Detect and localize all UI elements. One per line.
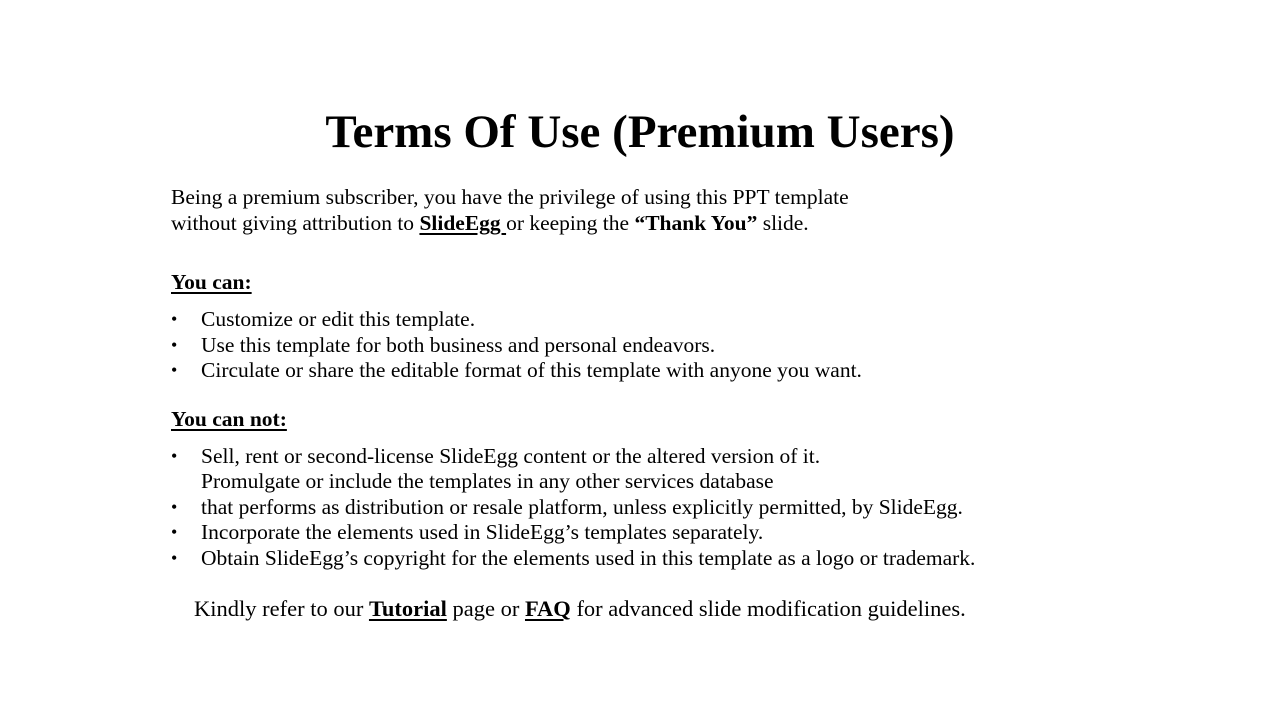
list-item-label: Customize or edit this template.: [201, 307, 475, 331]
list-item: • Use this template for both business an…: [171, 333, 1221, 359]
thank-you-quote: “Thank You”: [634, 211, 757, 235]
list-item: • Incorporate the elements used in Slide…: [171, 520, 1221, 546]
bullet-icon: •: [171, 333, 177, 359]
list-item: • that performs as distribution or resal…: [171, 495, 1221, 521]
list-item-label: Use this template for both business and …: [201, 333, 715, 357]
cannot-heading-wrap: You can not:: [171, 406, 1221, 432]
bullet-icon: •: [171, 546, 177, 572]
list-item: • Circulate or share the editable format…: [171, 358, 1221, 384]
footer-text-a: Kindly refer to our: [194, 596, 369, 621]
can-section-heading: You can:: [171, 269, 252, 295]
bullet-icon: •: [171, 520, 177, 546]
list-item: • Sell, rent or second-license SlideEgg …: [171, 444, 1221, 495]
intro-line-2-text-b: or keeping the: [506, 211, 634, 235]
list-item: • Obtain SlideEgg’s copyright for the el…: [171, 546, 1221, 572]
spacer-after-cannot-heading: [171, 432, 1221, 444]
intro-line-1: Being a premium subscriber, you have the…: [171, 184, 1221, 210]
cannot-list: • Sell, rent or second-license SlideEgg …: [171, 444, 1221, 572]
faq-link[interactable]: FAQ: [525, 596, 571, 621]
spacer-after-intro: [171, 236, 1221, 269]
intro-line-2-text-c: slide.: [757, 211, 808, 235]
slide-body: Being a premium subscriber, you have the…: [171, 184, 1221, 571]
list-item: • Customize or edit this template.: [171, 307, 1221, 333]
bullet-icon: •: [171, 358, 177, 384]
list-item-label: Obtain SlideEgg’s copyright for the elem…: [201, 546, 975, 570]
bullet-icon: •: [171, 495, 177, 521]
slideegg-link[interactable]: SlideEgg: [419, 211, 506, 235]
spacer-after-can-heading: [171, 295, 1221, 307]
tutorial-link[interactable]: Tutorial: [369, 596, 447, 621]
intro-paragraph: Being a premium subscriber, you have the…: [171, 184, 1221, 236]
list-item-label: that performs as distribution or resale …: [201, 495, 963, 519]
can-heading-wrap: You can:: [171, 269, 1221, 295]
bullet-icon: •: [171, 444, 177, 470]
slide-canvas: Terms Of Use (Premium Users) Being a pre…: [0, 0, 1280, 720]
footer-text-c: for advanced slide modification guidelin…: [571, 596, 966, 621]
list-item-label: Sell, rent or second-license SlideEgg co…: [201, 444, 820, 468]
page-title: Terms Of Use (Premium Users): [0, 103, 1280, 161]
intro-line-2-text-a: without giving attribution to: [171, 211, 419, 235]
intro-line-2: without giving attribution to SlideEgg o…: [171, 210, 1221, 236]
cannot-section-heading: You can not:: [171, 406, 287, 432]
bullet-icon: •: [171, 307, 177, 333]
footer-note: Kindly refer to our Tutorial page or FAQ…: [194, 595, 966, 623]
list-item-label: Circulate or share the editable format o…: [201, 358, 862, 382]
can-list: • Customize or edit this template. • Use…: [171, 307, 1221, 384]
list-item-continuation: Promulgate or include the templates in a…: [201, 469, 1221, 495]
list-item-label: Incorporate the elements used in SlideEg…: [201, 520, 763, 544]
spacer-before-cannot: [171, 384, 1221, 406]
footer-text-b: page or: [447, 596, 525, 621]
